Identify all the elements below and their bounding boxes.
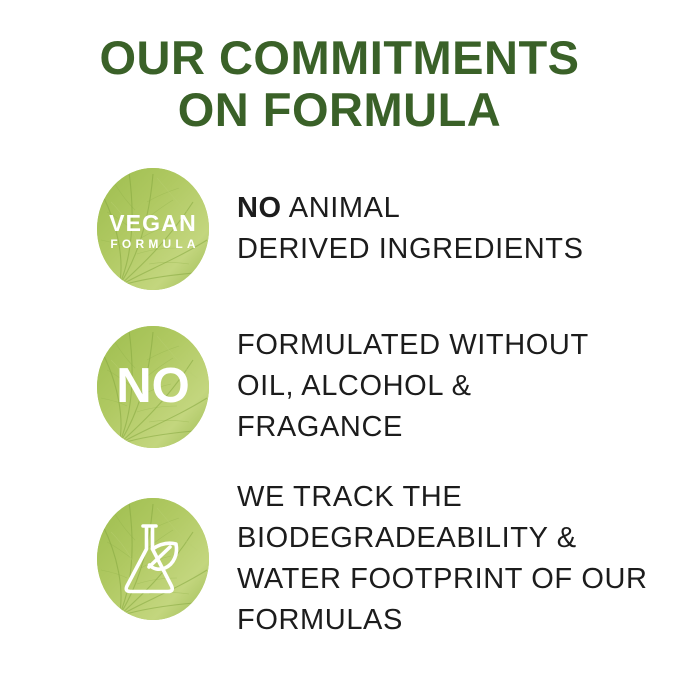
commitment-text-line: FORMULATED WITHOUT	[237, 325, 589, 366]
page-title-line-2: ON FORMULA	[0, 84, 679, 136]
badge-flask	[97, 498, 209, 620]
commitment-text-line: WE TRACK THE	[237, 477, 648, 518]
commitment-text-no-oil: FORMULATED WITHOUT OIL, ALCOHOL & FRAGAN…	[237, 325, 589, 448]
page-title: OUR COMMITMENTS ON FORMULA	[0, 0, 679, 136]
page-title-line-1: OUR COMMITMENTS	[0, 32, 679, 84]
commitment-item-biodegradeability: WE TRACK THE BIODEGRADEABILITY & WATER F…	[0, 469, 679, 649]
commitment-text-line: BIODEGRADEABILITY &	[237, 518, 648, 559]
commitment-text-emphasis: NO	[237, 192, 282, 224]
commitment-item-no-oil: NO FORMULATED WITHOUT OIL, ALCOHOL & FRA…	[0, 304, 679, 469]
commitment-text-line: DERIVED INGREDIENTS	[237, 229, 584, 270]
commitment-text-line: WATER FOOTPRINT OF OUR	[237, 559, 648, 600]
badge-no: NO	[97, 326, 209, 448]
commitment-text-line: OIL, ALCOHOL &	[237, 366, 589, 407]
commitment-text-rest: ANIMAL	[282, 192, 401, 224]
flask-with-leaf-icon	[118, 522, 188, 596]
commitment-text-line: NO ANIMAL	[237, 188, 584, 229]
commitments-list: VEGAN FORMULA NO ANIMAL DERIVED INGREDIE…	[0, 154, 679, 649]
badge-vegan-formula: VEGAN FORMULA	[97, 168, 209, 290]
leaf-texture-icon	[97, 168, 209, 290]
commitment-item-vegan: VEGAN FORMULA NO ANIMAL DERIVED INGREDIE…	[0, 154, 679, 304]
commitment-text-line: FRAGANCE	[237, 407, 589, 448]
commitment-text-vegan: NO ANIMAL DERIVED INGREDIENTS	[237, 188, 584, 270]
commitment-text-biodegradeability: WE TRACK THE BIODEGRADEABILITY & WATER F…	[237, 477, 648, 641]
leaf-texture-icon	[97, 326, 209, 448]
commitment-text-line: FORMULAS	[237, 600, 648, 641]
